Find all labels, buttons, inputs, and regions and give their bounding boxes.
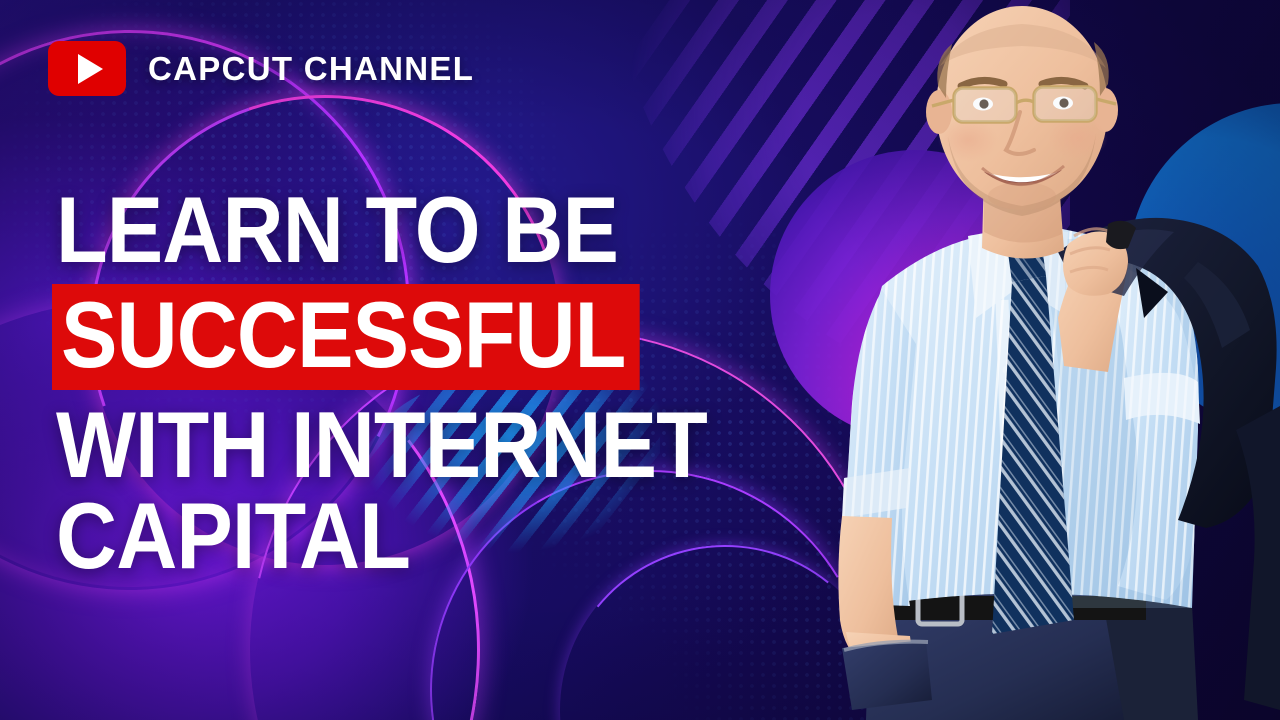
headline-block: LEARN TO BE SUCCESSFUL WITH INTERNET CAP… <box>56 185 876 581</box>
channel-name: CAPCUT CHANNEL <box>148 52 474 85</box>
channel-badge: CAPCUT CHANNEL <box>48 41 474 96</box>
youtube-play-icon[interactable] <box>48 41 126 96</box>
presenter-photo <box>806 0 1280 720</box>
play-triangle-glyph <box>78 54 103 84</box>
headline-line-3: WITH INTERNET <box>56 400 794 490</box>
youtube-thumbnail: CAPCUT CHANNEL LEARN TO BE SUCCESSFUL WI… <box>0 0 1280 720</box>
headline-line-1: LEARN TO BE <box>56 185 794 275</box>
headline-line-2-highlighted: SUCCESSFUL <box>52 284 640 390</box>
headline-line-4: CAPITAL <box>56 491 794 581</box>
